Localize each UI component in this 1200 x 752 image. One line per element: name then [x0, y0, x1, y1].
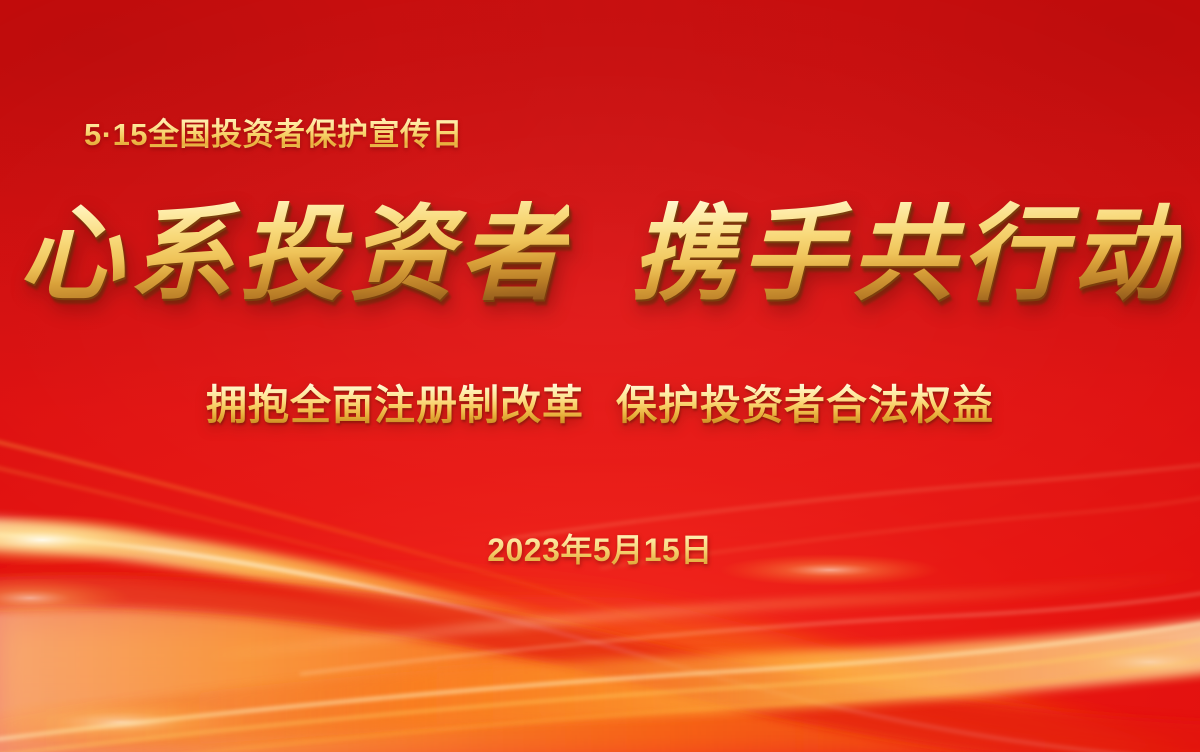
- main-title: 心系投资者 携手共行动: [0, 196, 1200, 312]
- campaign-eyebrow-text: 5·15全国投资者保护宣传日: [84, 116, 463, 155]
- subtitle-right-phrase: 保护投资者合法权益: [616, 382, 994, 428]
- main-title-line-1: 心系投资者: [19, 196, 569, 312]
- investor-protection-poster: 5·15全国投资者保护宣传日 心系投资者 携手共行动 拥抱全面注册制改革保护投资…: [0, 0, 1200, 752]
- event-date: 2023年5月15日: [0, 525, 1200, 571]
- main-title-line-2: 携手共行动: [631, 196, 1181, 312]
- poster-content: 5·15全国投资者保护宣传日 心系投资者 携手共行动 拥抱全面注册制改革保护投资…: [0, 0, 1200, 752]
- subtitle-left-phrase: 拥抱全面注册制改革: [206, 382, 584, 428]
- subtitle: 拥抱全面注册制改革保护投资者合法权益: [0, 381, 1200, 430]
